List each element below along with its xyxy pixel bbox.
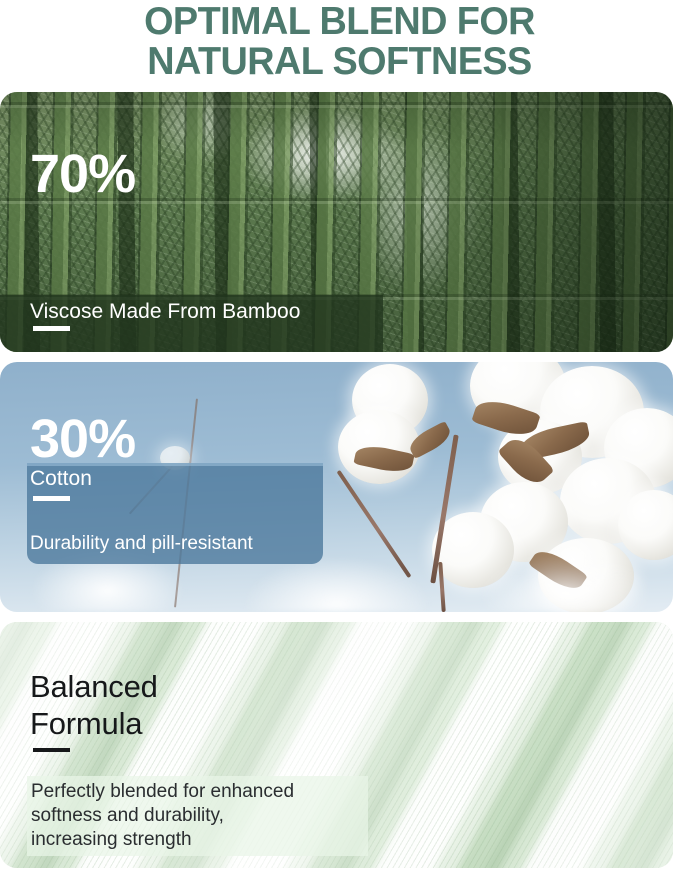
card-subhead-cotton: Cotton bbox=[30, 466, 92, 492]
divider-rule-cotton bbox=[33, 496, 70, 501]
percent-value-cotton: 30% bbox=[30, 412, 135, 466]
benefit-card-bamboo: 70% Viscose Made From Bamboo Hollow fibe… bbox=[0, 92, 673, 352]
card-subhead-balanced: Balanced Formula bbox=[30, 668, 158, 742]
header: OPTIMAL BLEND FOR NATURAL SOFTNESS bbox=[0, 0, 679, 82]
benefit-card-cotton: 30% Cotton Durability and pill-resistant bbox=[0, 362, 673, 612]
benefit-cards-list: 70% Viscose Made From Bamboo Hollow fibe… bbox=[0, 92, 679, 878]
divider-rule-bamboo bbox=[33, 326, 70, 331]
page-title: OPTIMAL BLEND FOR NATURAL SOFTNESS bbox=[10, 2, 669, 82]
percent-value-bamboo: 70% bbox=[30, 147, 135, 201]
card-body-cotton: Durability and pill-resistant bbox=[30, 532, 330, 556]
divider-rule-balanced bbox=[33, 748, 70, 752]
benefit-card-balanced: Balanced Formula Perfectly blended for e… bbox=[0, 622, 673, 868]
card-body-balanced: Perfectly blended for enhanced softness … bbox=[31, 780, 376, 852]
card-subhead-bamboo: Viscose Made From Bamboo bbox=[30, 299, 300, 325]
